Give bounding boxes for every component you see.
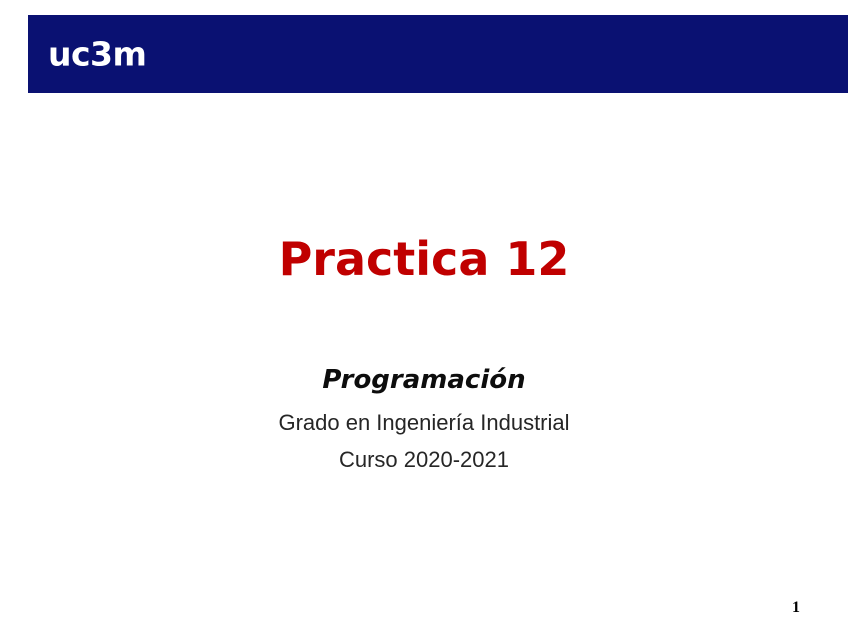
course-subtitle: Programación xyxy=(0,366,848,396)
academic-year-line: Curso 2020-2021 xyxy=(0,447,848,473)
page-number: 1 xyxy=(792,600,800,616)
degree-line: Grado en Ingeniería Industrial xyxy=(0,410,848,436)
uc3m-logo: uc3m xyxy=(48,38,146,71)
page-title: Practica 12 xyxy=(0,234,848,285)
presentation-slide: uc3m Practica 12 Programación Grado en I… xyxy=(0,0,848,636)
header-banner: uc3m xyxy=(28,15,848,93)
